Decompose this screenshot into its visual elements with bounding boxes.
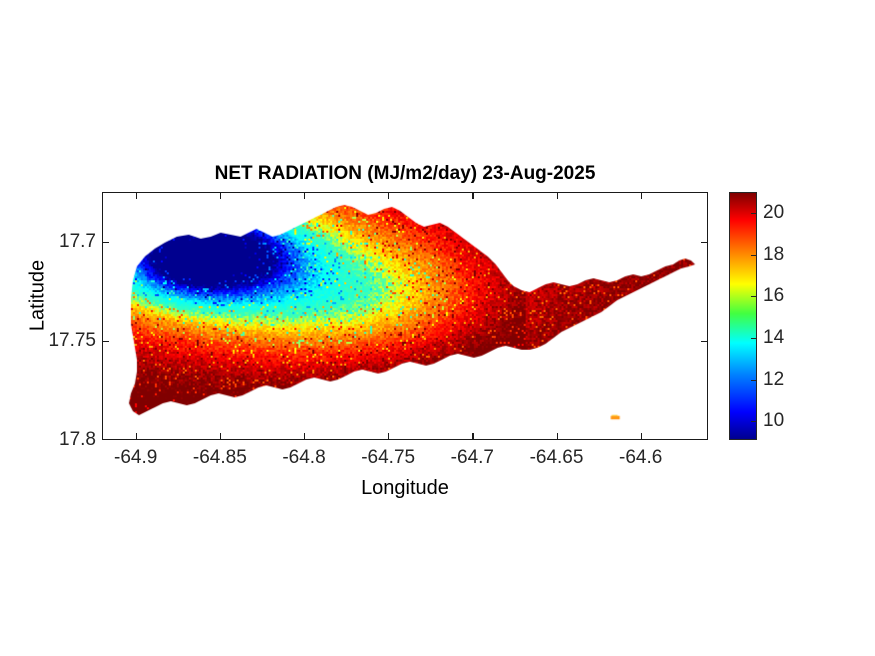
x-tick [472, 192, 473, 199]
x-tick [557, 433, 558, 440]
y-tick [701, 242, 708, 243]
x-tick [220, 192, 221, 199]
x-tick [304, 433, 305, 440]
x-tick-label: -64.8 [282, 447, 325, 469]
colorbar-tick-label: 16 [763, 285, 784, 307]
x-tick-label: -64.9 [114, 447, 157, 469]
x-tick [557, 192, 558, 199]
y-tick [102, 341, 109, 342]
colorbar-tick-label: 10 [763, 410, 784, 432]
colorbar-tick [751, 380, 757, 381]
x-tick [641, 192, 642, 199]
x-tick-label: -64.7 [451, 447, 494, 469]
x-tick [136, 433, 137, 440]
y-tick-label: 17.8 [59, 429, 96, 451]
colorbar-tick-label: 12 [763, 369, 784, 391]
x-tick-label: -64.85 [193, 447, 247, 469]
y-tick [102, 242, 109, 243]
x-tick [641, 433, 642, 440]
x-tick [304, 192, 305, 199]
colorbar-tick [751, 213, 757, 214]
colorbar-tick [751, 296, 757, 297]
colorbar-tick [751, 421, 757, 422]
y-tick-label: 17.75 [48, 330, 96, 352]
x-tick [388, 433, 389, 440]
colorbar-tick [751, 338, 757, 339]
colorbar-tick [751, 255, 757, 256]
x-tick-label: -64.6 [619, 447, 662, 469]
x-tick [136, 192, 137, 199]
figure-canvas: NET RADIATION (MJ/m2/day) 23-Aug-2025 -6… [0, 0, 875, 656]
map-axes[interactable] [102, 192, 708, 440]
x-axis-label: Longitude [102, 477, 708, 500]
x-tick-label: -64.65 [530, 447, 584, 469]
y-tick-label: 17.7 [59, 231, 96, 253]
x-tick [472, 433, 473, 440]
colorbar-gradient [730, 193, 756, 439]
x-tick [220, 433, 221, 440]
y-axis-label: Latitude [27, 226, 50, 366]
colorbar[interactable] [729, 192, 757, 440]
page-title: NET RADIATION (MJ/m2/day) 23-Aug-2025 [102, 163, 708, 185]
colorbar-tick-label: 14 [763, 327, 784, 349]
net-radiation-raster [103, 193, 707, 439]
x-tick [388, 192, 389, 199]
x-tick-label: -64.75 [361, 447, 415, 469]
colorbar-tick-label: 20 [763, 202, 784, 224]
y-tick [701, 341, 708, 342]
colorbar-tick-label: 18 [763, 244, 784, 266]
